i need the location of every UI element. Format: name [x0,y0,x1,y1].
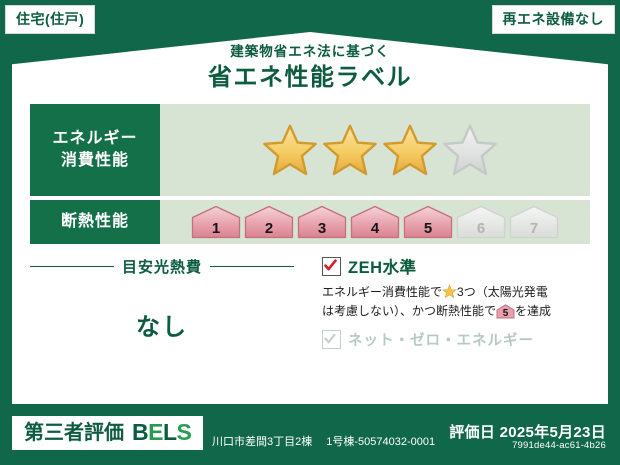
star-empty-icon [441,122,499,178]
inline-house-badge-value: 5 [496,309,515,319]
footer: 第三者評価 BELS 川口市差間3丁目2棟1号棟-50574032-0001 評… [0,407,620,465]
bels-letter-s: S [177,419,192,445]
insulation-step-active: 5 [403,205,453,239]
row-insulation-performance: 断熱性能 1234567 [30,200,590,244]
inline-house-badge-icon: 5 [496,304,515,319]
rule-right [210,266,294,267]
label-title: 省エネ性能ラベル [0,57,620,92]
star-filled-icon [321,122,379,178]
address-text: 川口市差間3丁目2棟 [212,436,312,448]
bels-wordmark: BELS [132,421,191,444]
energy-performance-label: エネルギー 消費性能 [30,104,160,196]
row-energy-performance: エネルギー 消費性能 [30,104,590,196]
insulation-step-number: 4 [350,221,400,236]
insulation-step-active: 4 [350,205,400,239]
insulation-step-active: 1 [191,205,241,239]
insulation-step-scale: 1234567 [160,200,590,244]
evaluation-date: 評価日 2025年5月23日 [449,421,606,442]
utility-cost-header: 目安光熱費 [12,256,312,277]
energy-label-line1: エネルギー [52,128,137,150]
insulation-step-active: 2 [244,205,294,239]
zeh-desc-part4: を達成 [515,304,551,318]
rule-left [30,266,114,267]
star-filled-icon [261,122,319,178]
insulation-step-active: 3 [297,205,347,239]
insulation-performance-label: 断熱性能 [30,200,160,244]
bels-letter-b: B [132,419,148,445]
zeh-desc-part3: は考慮しない）、かつ断熱性能で [322,304,496,318]
utility-cost-title: 目安光熱費 [122,256,202,277]
net-zero-checkbox-unchecked-icon [322,330,341,349]
building-address: 川口市差間3丁目2棟1号棟-50574032-0001 [212,433,435,449]
insulation-step-number: 3 [297,221,347,236]
tag-renewable-equipment: 再エネ設備なし [492,5,616,34]
bels-letter-l: L [163,419,177,445]
tag-dwelling-type: 住宅(住戸) [5,5,95,34]
zeh-standard-row: ZEH水準 [322,254,598,278]
net-zero-energy-label: ネット・ゼロ・エネルギー [348,329,534,350]
insulation-step-inactive: 7 [509,205,559,239]
insulation-step-inactive: 6 [456,205,506,239]
third-party-eval-label: 第三者評価 [24,423,124,443]
utility-cost-block: 目安光熱費 なし [12,248,312,404]
insulation-step-number: 7 [509,221,559,236]
performance-section: エネルギー 消費性能 断熱性能 1234567 [30,104,590,248]
energy-label-line2: 消費性能 [61,150,129,172]
insulation-step-number: 2 [244,221,294,236]
zeh-standard-label: ZEH水準 [348,254,417,278]
zeh-desc-part2: 3つ（太陽光発電 [457,285,548,299]
insulation-label-line1: 断熱性能 [61,211,129,233]
evaluation-hash: 7991de44-ac61-4b26 [512,440,606,451]
star-filled-icon [381,122,439,178]
insulation-step-number: 6 [456,221,506,236]
insulation-step-number: 5 [403,221,453,236]
insulation-step-number: 1 [191,221,241,236]
net-zero-energy-row: ネット・ゼロ・エネルギー [322,329,598,350]
bels-logo-box: 第三者評価 BELS [12,416,203,450]
bels-energy-label: 住宅(住戸) 再エネ設備なし 建築物省エネ法に基づく 省エネ性能ラベル エネルギ… [0,0,620,465]
utility-cost-value: なし [12,307,312,342]
zeh-desc-part1: エネルギー消費性能で [322,285,442,299]
building-id-text: 1号棟-50574032-0001 [326,436,435,448]
lower-section: 目安光熱費 なし ZEH水準 エネルギー消費性能で 3つ（太陽光発電 は考慮しな… [12,248,608,404]
zeh-block: ZEH水準 エネルギー消費性能で 3つ（太陽光発電 は考慮しない）、かつ断熱性能… [312,248,608,404]
zeh-description: エネルギー消費性能で 3つ（太陽光発電 は考慮しない）、かつ断熱性能で 5 を達… [322,283,598,320]
star-rating [160,104,590,196]
inline-star-icon [442,284,457,299]
zeh-checkbox-checked-icon [322,257,341,276]
bels-letter-e: E [148,419,163,445]
